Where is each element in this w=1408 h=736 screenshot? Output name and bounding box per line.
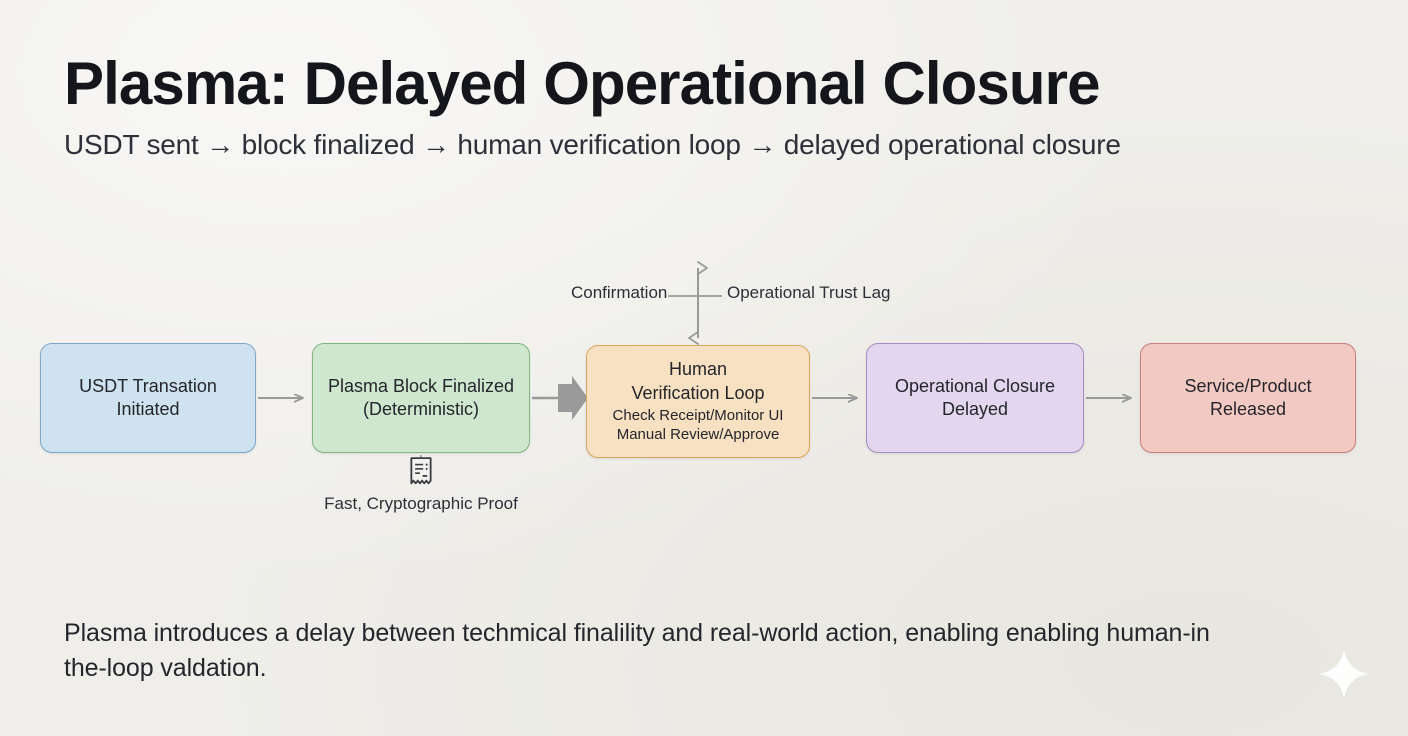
flow-node-service-product-released[interactable]: Service/Product Released xyxy=(1140,343,1356,453)
sparkle-icon xyxy=(1316,646,1372,702)
flow-node-operational-closure-delayed[interactable]: Operational Closure Delayed xyxy=(866,343,1084,453)
footer-note: Plasma introduces a delay between techmi… xyxy=(64,616,1234,685)
cryptographic-proof-badge: Fast, Cryptographic Proof xyxy=(312,456,530,514)
receipt-icon xyxy=(408,456,434,486)
node-title: Operational Closure Delayed xyxy=(895,375,1055,421)
flow-node-usdt-transaction-initiated[interactable]: USDT Transation Initiated xyxy=(40,343,256,453)
page-title: Plasma: Delayed Operational Closure xyxy=(64,52,1121,117)
connector-plasma-to-human-head xyxy=(558,376,588,420)
page-subtitle: USDT sent → block finalized → human veri… xyxy=(64,129,1121,161)
flow-node-plasma-block-finalized[interactable]: Plasma Block Finalized (Deterministic) xyxy=(312,343,530,453)
annotation-confirmation: Confirmation xyxy=(571,283,667,303)
slide-header: Plasma: Delayed Operational Closure USDT… xyxy=(64,52,1121,161)
flow-node-human-verification-loop[interactable]: Human Verification Loop Check Receipt/Mo… xyxy=(586,345,810,458)
node-title: Service/Product Released xyxy=(1184,375,1311,421)
node-title: Human Verification Loop xyxy=(631,358,764,404)
node-title: USDT Transation Initiated xyxy=(79,375,217,421)
node-title: Plasma Block Finalized (Deterministic) xyxy=(328,375,514,421)
badge-caption: Fast, Cryptographic Proof xyxy=(324,494,518,514)
node-subtitle: Check Receipt/Monitor UI Manual Review/A… xyxy=(613,406,784,445)
annotation-operational-trust-lag: Operational Trust Lag xyxy=(727,283,890,303)
